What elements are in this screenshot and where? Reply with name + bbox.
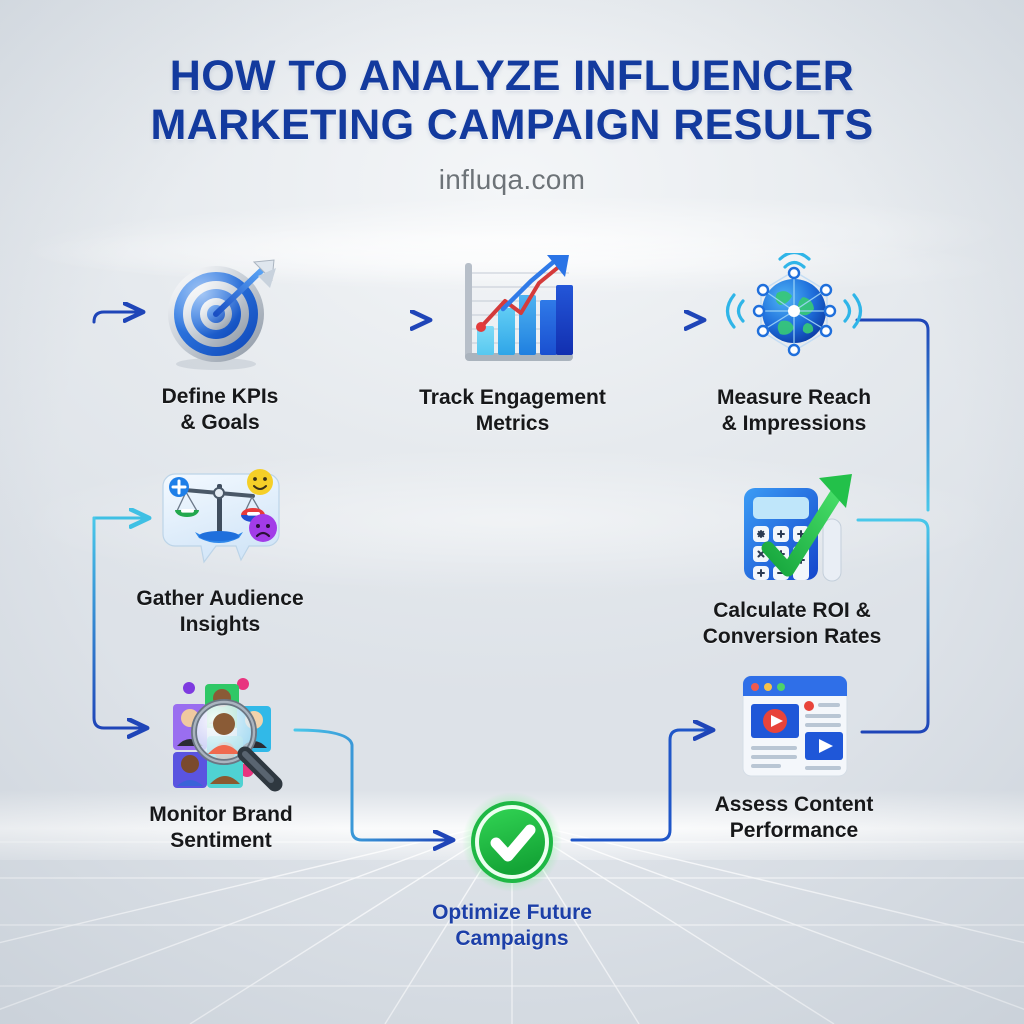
step-define-kpis[interactable]: Define KPIs & Goals (120, 258, 320, 437)
step-label: Gather Audience Insights (122, 586, 318, 639)
bar-chart-growth-icon (405, 253, 620, 377)
video-browser-icon (700, 666, 888, 784)
page-title-line2: MARKETING CAMPAIGN RESULTS (0, 101, 1024, 150)
step-label: Measure Reach & Impressions (700, 385, 888, 438)
step-track-engagement[interactable]: Track Engagement Metrics (405, 253, 620, 438)
step-assess-content[interactable]: Assess Content Performance (700, 666, 888, 845)
step-label: Monitor Brand Sentiment (130, 802, 312, 855)
header: HOW TO ANALYZE INFLUENCER MARKETING CAMP… (0, 0, 1024, 196)
step-monitor-sentiment[interactable]: Monitor Brand Sentiment (130, 674, 312, 855)
people-magnifier-icon (130, 674, 312, 794)
step-label: Assess Content Performance (700, 792, 888, 845)
step-measure-reach[interactable]: Measure Reach & Impressions (700, 253, 888, 438)
calculator-growth-icon (692, 470, 892, 590)
step-label: Optimize Future Campaigns (412, 900, 612, 953)
sentiment-scales-icon (122, 466, 318, 578)
step-calculate-roi[interactable]: Calculate ROI & Conversion Rates (692, 470, 892, 651)
page-title: HOW TO ANALYZE INFLUENCER MARKETING CAMP… (0, 52, 1024, 150)
step-label: Define KPIs & Goals (120, 384, 320, 437)
check-circle-icon (412, 792, 612, 892)
page-title-line1: HOW TO ANALYZE INFLUENCER (0, 52, 1024, 101)
step-gather-insights[interactable]: Gather Audience Insights (122, 466, 318, 639)
step-label: Track Engagement Metrics (405, 385, 620, 438)
globe-network-icon (700, 253, 888, 377)
step-label: Calculate ROI & Conversion Rates (692, 598, 892, 651)
site-tagline: influqa.com (0, 164, 1024, 196)
step-optimize-future[interactable]: Optimize Future Campaigns (412, 792, 612, 953)
target-icon (120, 258, 320, 376)
